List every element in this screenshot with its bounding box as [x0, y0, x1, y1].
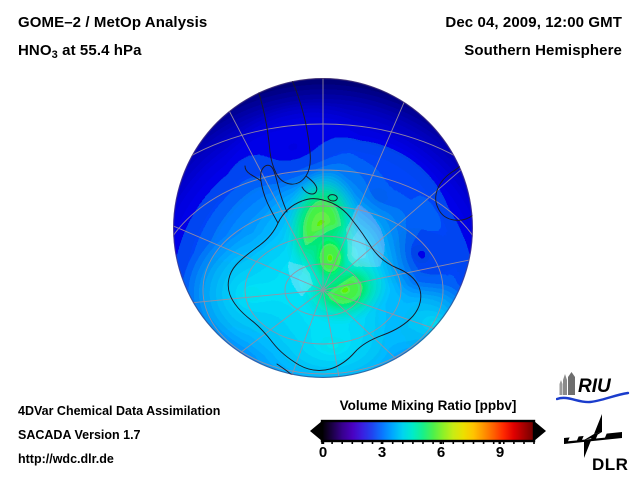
colorbar-scale [310, 418, 546, 444]
hemisphere-label: Southern Hemisphere [464, 42, 622, 59]
footer-url-label: http://wdc.dlr.de [18, 452, 114, 466]
colorbar-high-arrow [534, 421, 546, 441]
orthographic-globe-map [173, 78, 473, 378]
riu-logo: RIU [556, 372, 630, 406]
hno3-data-field [173, 78, 473, 378]
footer-method-label: 4DVar Chemical Data Assimilation [18, 404, 220, 418]
visualization-page: GOME–2 / MetOp Analysis HNO3 at 55.4 hPa… [0, 0, 640, 480]
footer-version-label: SACADA Version 1.7 [18, 428, 141, 442]
riu-wordmark: RIU [578, 376, 612, 397]
datetime-label: Dec 04, 2009, 12:00 GMT [445, 14, 622, 31]
dlr-logo: DLR [558, 412, 630, 474]
colorbar-tick-label-9: 9 [496, 444, 504, 461]
species-formula-subscript: 3 [52, 49, 58, 61]
species-level-suffix: at 55.4 hPa [58, 42, 142, 59]
colorbar-tick-label-6: 6 [437, 444, 445, 461]
riu-spires-icon [560, 372, 576, 395]
species-level-label: HNO3 at 55.4 hPa [18, 42, 142, 59]
riu-logo-svg: RIU [556, 372, 630, 406]
coastline-new-zealand-south [267, 375, 281, 378]
colorbar-tick-label-0: 0 [319, 444, 327, 461]
colorbar-title: Volume Mixing Ratio [ppbv] [310, 398, 546, 413]
colorbar-tick-label-3: 3 [378, 444, 386, 461]
species-formula-prefix: HNO [18, 42, 52, 59]
dlr-mark-icon [564, 414, 622, 458]
page-title: GOME–2 / MetOp Analysis [18, 14, 207, 31]
dlr-wordmark: DLR [592, 455, 628, 474]
colorbar-tick-labels: 0 3 6 9 [310, 444, 546, 468]
globe-svg [173, 78, 473, 378]
colorbar-gradient [322, 421, 534, 441]
colorbar: Volume Mixing Ratio [ppbv] [310, 398, 546, 470]
colorbar-low-arrow [310, 421, 322, 441]
dlr-logo-svg: DLR [558, 412, 630, 474]
